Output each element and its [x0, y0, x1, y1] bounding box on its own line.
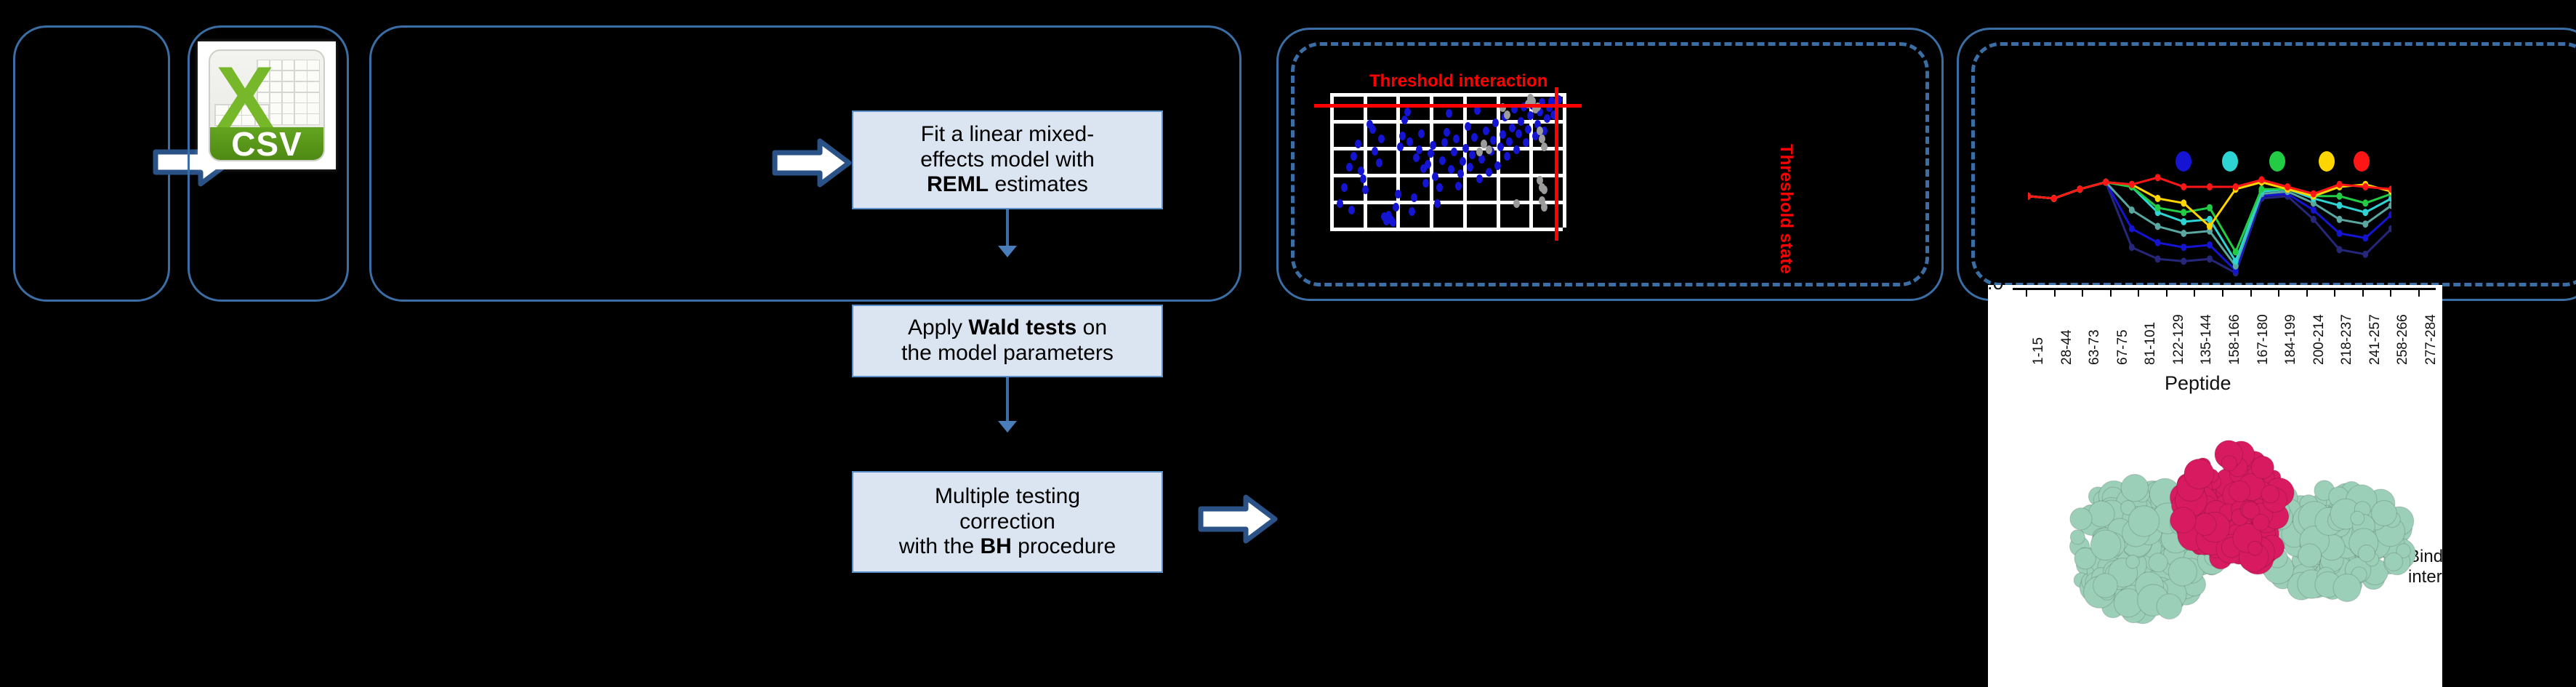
- peptide-tick-label: 258-266: [2395, 314, 2411, 365]
- peptide-tick: [2082, 289, 2083, 297]
- scatter-point: [1362, 185, 1369, 194]
- threshold-state-line: [1555, 87, 1558, 241]
- scatter-point: [1506, 137, 1513, 146]
- scatter-point: [1471, 133, 1478, 142]
- peptide-tick-label: 184-199: [2283, 314, 2299, 365]
- peptide-marker: [2103, 179, 2109, 186]
- connector-wald-to-bh-tip: [998, 421, 1017, 433]
- peptide-marker: [2207, 204, 2213, 212]
- connector-fit-to-wald-tip: [998, 246, 1017, 257]
- scatter-point: [1518, 117, 1524, 126]
- peptide-marker: [2155, 204, 2161, 212]
- peptide-marker: [2129, 225, 2135, 233]
- peptide-tick: [2138, 289, 2139, 297]
- peptide-marker: [2181, 230, 2186, 237]
- scatter-point: [1413, 153, 1420, 162]
- scatter-point: [1416, 145, 1422, 154]
- scatter-point: [1516, 129, 1522, 138]
- scatter-point: [1544, 114, 1550, 123]
- scatter-gridline-v: [1497, 93, 1500, 228]
- peptide-marker: [2311, 216, 2317, 223]
- threshold-interaction-line: [1314, 104, 1582, 108]
- peptide-marker: [2258, 176, 2264, 183]
- scatter-point: [1369, 125, 1376, 134]
- peptide-marker: [2311, 190, 2317, 198]
- bh-line3post: procedure: [1012, 534, 1116, 558]
- threshold-interaction-label: Threshold interaction: [1369, 71, 1547, 92]
- scatter-point: [1348, 206, 1355, 214]
- peptide-tick-label: 167-180: [2255, 314, 2271, 365]
- bh-correction-box: Multiple testing correction with the BH …: [852, 471, 1163, 573]
- scatter-point: [1376, 158, 1382, 167]
- scatter-point: [1541, 203, 1547, 212]
- threshold-state-label: Threshold state: [1776, 144, 1796, 274]
- protein-surface-image: [2039, 401, 2442, 663]
- peptide-marker: [2181, 244, 2186, 251]
- scatter-point: [1446, 109, 1452, 118]
- scatter-point: [1430, 141, 1436, 150]
- connector-fit-to-wald: [1006, 209, 1009, 246]
- peptide-marker: [2362, 183, 2368, 190]
- peptide-marker: [2337, 181, 2343, 188]
- peptide-tick: [2250, 289, 2252, 297]
- peptide-marker: [2362, 220, 2368, 228]
- connector-wald-to-bh: [1006, 377, 1009, 421]
- scatter-point: [1372, 147, 1378, 156]
- peptide-marker: [2129, 206, 2135, 214]
- peptide-marker: [2258, 185, 2264, 193]
- bh-bold: BH: [980, 534, 1011, 558]
- peptide-tick-label: 135-144: [2199, 314, 2215, 365]
- fit-model-reml: REML: [927, 172, 989, 196]
- scatter-point: [1462, 144, 1469, 153]
- scatter-point: [1351, 152, 1357, 161]
- wald-tests-box: Apply Wald tests on the model parameters: [852, 305, 1163, 377]
- peptide-tick: [2278, 289, 2279, 297]
- wald-bold: Wald tests: [968, 316, 1076, 340]
- peptide-axis-line: [2013, 288, 2436, 290]
- scatter-point: [1504, 152, 1510, 161]
- peptide-marker: [2362, 251, 2368, 258]
- peptide-marker: [2233, 249, 2239, 256]
- scatter-point: [1465, 122, 1471, 131]
- scatter-point: [1439, 156, 1446, 165]
- peptide-tick: [2054, 289, 2056, 297]
- scatter-point: [1444, 128, 1450, 137]
- bh-line1: Multiple testing: [935, 484, 1080, 508]
- csv-icon-body: X CSV: [209, 49, 325, 162]
- csv-band: CSV: [210, 127, 323, 160]
- scatter-gridline-v: [1430, 93, 1433, 228]
- scatter-point: [1436, 183, 1443, 192]
- peptide-marker: [2311, 206, 2317, 214]
- scatter-point: [1537, 126, 1543, 135]
- peptide-marker: [2337, 246, 2343, 253]
- peptide-tick: [2194, 289, 2195, 297]
- scatter-point: [1453, 134, 1460, 143]
- peptide-marker: [2181, 199, 2186, 206]
- peptide-tick-label: 67-75: [2115, 329, 2131, 365]
- bh-line3pre: with the: [899, 534, 981, 558]
- scatter-point: [1467, 163, 1473, 172]
- scatter-point: [1428, 149, 1434, 158]
- scatter-point: [1404, 108, 1411, 116]
- scatter-point: [1486, 145, 1492, 154]
- fit-model-line3rest: estimates: [989, 172, 1088, 196]
- peptide-marker: [2362, 199, 2368, 206]
- peptide-tick-label: 1-15: [2031, 337, 2047, 365]
- scatter-point: [1432, 172, 1438, 181]
- peptide-tick-label: 81-101: [2143, 322, 2159, 365]
- peptide-marker: [2233, 257, 2239, 265]
- scatter-point: [1469, 150, 1476, 159]
- peptide-marker: [2207, 183, 2213, 190]
- peptide-marker: [2181, 209, 2186, 216]
- scatter-point: [1346, 163, 1353, 172]
- peptide-tick-label: 277-284: [2423, 314, 2439, 365]
- peptide-marker: [2129, 181, 2135, 188]
- scatter-point: [1497, 142, 1504, 151]
- peptide-tick-label: 200-214: [2311, 314, 2327, 365]
- peptide-marker: [2155, 239, 2161, 246]
- peptide-marker: [2337, 202, 2343, 209]
- scatter-point: [1434, 199, 1441, 208]
- peptide-tick: [2110, 289, 2112, 297]
- scatter-gridline-h: [1330, 228, 1563, 231]
- peptide-tick-label: 63-73: [2087, 329, 2103, 365]
- scatter-point: [1406, 137, 1413, 146]
- scatter-point: [1500, 130, 1506, 139]
- scatter-point: [1492, 118, 1499, 127]
- csv-band-label: CSV: [231, 124, 302, 162]
- scatter-gridline-h: [1330, 120, 1563, 124]
- peptide-tick: [2166, 289, 2168, 297]
- scatter-point: [1541, 185, 1547, 194]
- peptide-marker: [2285, 183, 2290, 190]
- fit-model-line1: Fit a linear mixed-: [921, 122, 1094, 146]
- peptide-tick: [2306, 289, 2308, 297]
- peptide-marker: [2181, 218, 2186, 225]
- scatter-point: [1422, 179, 1429, 188]
- structure-inset: 0.0 Peptide Binding interface 1-1528-446…: [1988, 285, 2442, 687]
- scatter-point: [1490, 136, 1497, 145]
- peptide-marker: [2129, 244, 2135, 251]
- peptide-marker: [2362, 234, 2368, 241]
- peptide-marker: [2337, 193, 2343, 200]
- wald-line2: the model parameters: [901, 341, 1114, 365]
- scatter-plot: [1330, 93, 1563, 228]
- scatter-point: [1509, 124, 1516, 132]
- scatter-point: [1451, 148, 1457, 156]
- scatter-point: [1378, 134, 1385, 143]
- scatter-point: [1494, 161, 1501, 170]
- scatter-point: [1483, 126, 1489, 135]
- peptide-axis-title: Peptide: [2165, 372, 2231, 395]
- scatter-point: [1393, 203, 1399, 212]
- peptide-marker: [2233, 183, 2239, 190]
- csv-file-icon: X CSV: [198, 41, 336, 169]
- peptide-tick-label: 158-166: [2227, 314, 2243, 365]
- peptide-marker: [2181, 183, 2186, 190]
- peptide-marker: [2155, 174, 2161, 181]
- peptide-tick: [2362, 289, 2364, 297]
- peptide-tick: [2418, 289, 2420, 297]
- fit-model-line2: effects model with: [920, 148, 1095, 172]
- scatter-point: [1409, 207, 1415, 216]
- peptide-marker: [2362, 209, 2368, 216]
- peptide-tick-label: 122-129: [2171, 314, 2187, 365]
- scatter-gridline-v: [1330, 93, 1334, 228]
- scatter-point: [1513, 199, 1520, 208]
- peptide-marker: [2155, 255, 2161, 262]
- arrow-model-to-scatter: [1198, 491, 1278, 547]
- excel-x-letter: X: [216, 54, 257, 106]
- scatter-point: [1337, 199, 1343, 208]
- scatter-point: [1441, 138, 1448, 147]
- peptide-marker: [2028, 193, 2031, 200]
- peptide-tick-label: 28-44: [2059, 329, 2075, 365]
- peptide-marker: [2207, 241, 2213, 249]
- scatter-point: [1395, 190, 1401, 198]
- scatter-point: [1390, 218, 1396, 227]
- scatter-point: [1448, 165, 1454, 174]
- peptide-tick-label: 241-257: [2367, 314, 2383, 365]
- scatter-point: [1525, 125, 1531, 134]
- peptide-tick: [2026, 289, 2027, 297]
- y-axis-tick-label: 0.0: [1988, 285, 2004, 294]
- scatter-gridline-h: [1330, 147, 1563, 150]
- input-panel: [13, 25, 170, 302]
- bh-line2: correction: [959, 510, 1055, 534]
- peptide-marker: [2181, 257, 2186, 265]
- scatter-point: [1474, 106, 1481, 115]
- scatter-point: [1504, 111, 1510, 119]
- peptide-tick: [2390, 289, 2391, 297]
- scatter-point: [1399, 132, 1406, 140]
- scatter-point: [1523, 138, 1529, 147]
- scatter-point: [1513, 145, 1520, 154]
- scatter-gridline-h: [1330, 201, 1563, 204]
- peptide-marker: [2337, 216, 2343, 223]
- wald-line1post: on: [1076, 316, 1107, 340]
- scatter-point: [1341, 183, 1348, 192]
- peptide-marker: [2155, 195, 2161, 202]
- scatter-point: [1486, 168, 1492, 177]
- scatter-point: [1476, 174, 1483, 183]
- wald-line1pre: Apply: [908, 316, 968, 340]
- scatter-gridline-v: [1364, 93, 1367, 228]
- peptide-marker: [2207, 222, 2213, 230]
- scatter-point: [1455, 182, 1462, 190]
- peptide-tick: [2222, 289, 2223, 297]
- peptide-marker: [2207, 255, 2213, 262]
- peptide-tick: [2334, 289, 2335, 297]
- peptide-lines-svg: [2028, 164, 2391, 287]
- peptide-tick-label: 218-237: [2339, 314, 2355, 365]
- scatter-gridline-v: [1563, 93, 1566, 228]
- peptide-marker: [2077, 185, 2082, 193]
- peptide-marker: [2337, 230, 2343, 237]
- scatter-point: [1418, 129, 1425, 138]
- peptide-marker: [2155, 222, 2161, 230]
- fit-model-box: Fit a linear mixed- effects model with R…: [852, 111, 1163, 209]
- peptide-marker: [2051, 195, 2057, 202]
- scatter-point: [1397, 142, 1404, 151]
